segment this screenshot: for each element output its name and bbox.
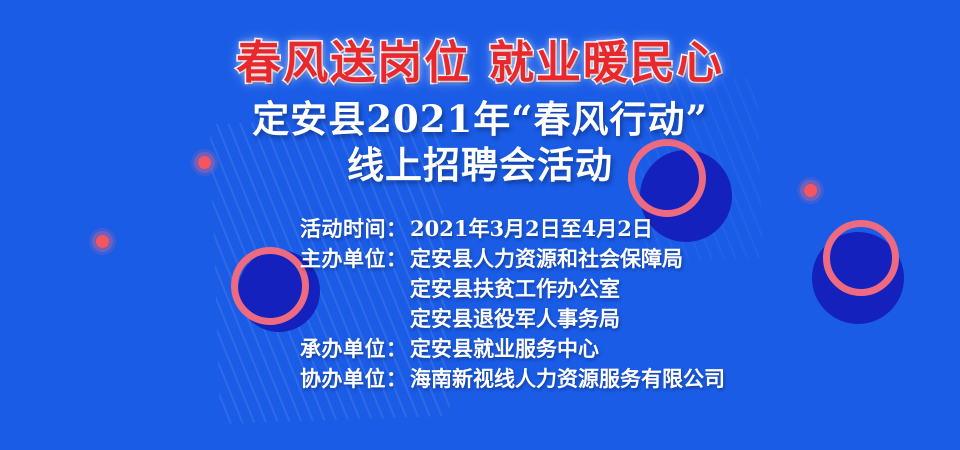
decorative-ring-left <box>231 247 309 325</box>
info-label: 主办单位： <box>300 243 410 273</box>
info-value: 定安县扶贫工作办公室 <box>410 273 620 303</box>
info-row-co-organizer: 协办单位： 海南新视线人力资源服务有限公司 <box>300 363 860 393</box>
info-value: 海南新视线人力资源服务有限公司 <box>410 363 725 393</box>
info-label: 活动时间： <box>300 213 410 243</box>
info-label: 协办单位： <box>300 363 410 393</box>
decorative-dot-left <box>96 235 109 248</box>
subtitle-container: 定安县2021年“春风行动” 线上招聘会活动 <box>0 96 960 188</box>
info-row-organizer-3: 定安县退役军人事务局 <box>300 303 860 333</box>
subtitle-line-1: 定安县2021年“春风行动” <box>0 96 960 142</box>
headline-container: 春风送岗位 就业暖民心 <box>0 26 960 91</box>
info-value: 2021年3月2日至4月2日 <box>410 213 653 243</box>
info-row-organizer-1: 主办单位： 定安县人力资源和社会保障局 <box>300 243 860 273</box>
info-row-event-time: 活动时间： 2021年3月2日至4月2日 <box>300 213 860 243</box>
info-value: 定安县就业服务中心 <box>410 333 599 363</box>
info-row-host: 承办单位： 定安县就业服务中心 <box>300 333 860 363</box>
info-label: 承办单位： <box>300 333 410 363</box>
info-block: 活动时间： 2021年3月2日至4月2日 主办单位： 定安县人力资源和社会保障局… <box>300 213 860 393</box>
info-value: 定安县人力资源和社会保障局 <box>410 243 683 273</box>
info-row-organizer-2: 定安县扶贫工作办公室 <box>300 273 860 303</box>
subtitle-line-2: 线上招聘会活动 <box>0 142 960 188</box>
info-value: 定安县退役军人事务局 <box>410 303 620 333</box>
poster-headline: 春风送岗位 就业暖民心 <box>236 26 724 91</box>
poster-banner: 春风送岗位 就业暖民心 定安县2021年“春风行动” 线上招聘会活动 活动时间：… <box>0 0 960 450</box>
